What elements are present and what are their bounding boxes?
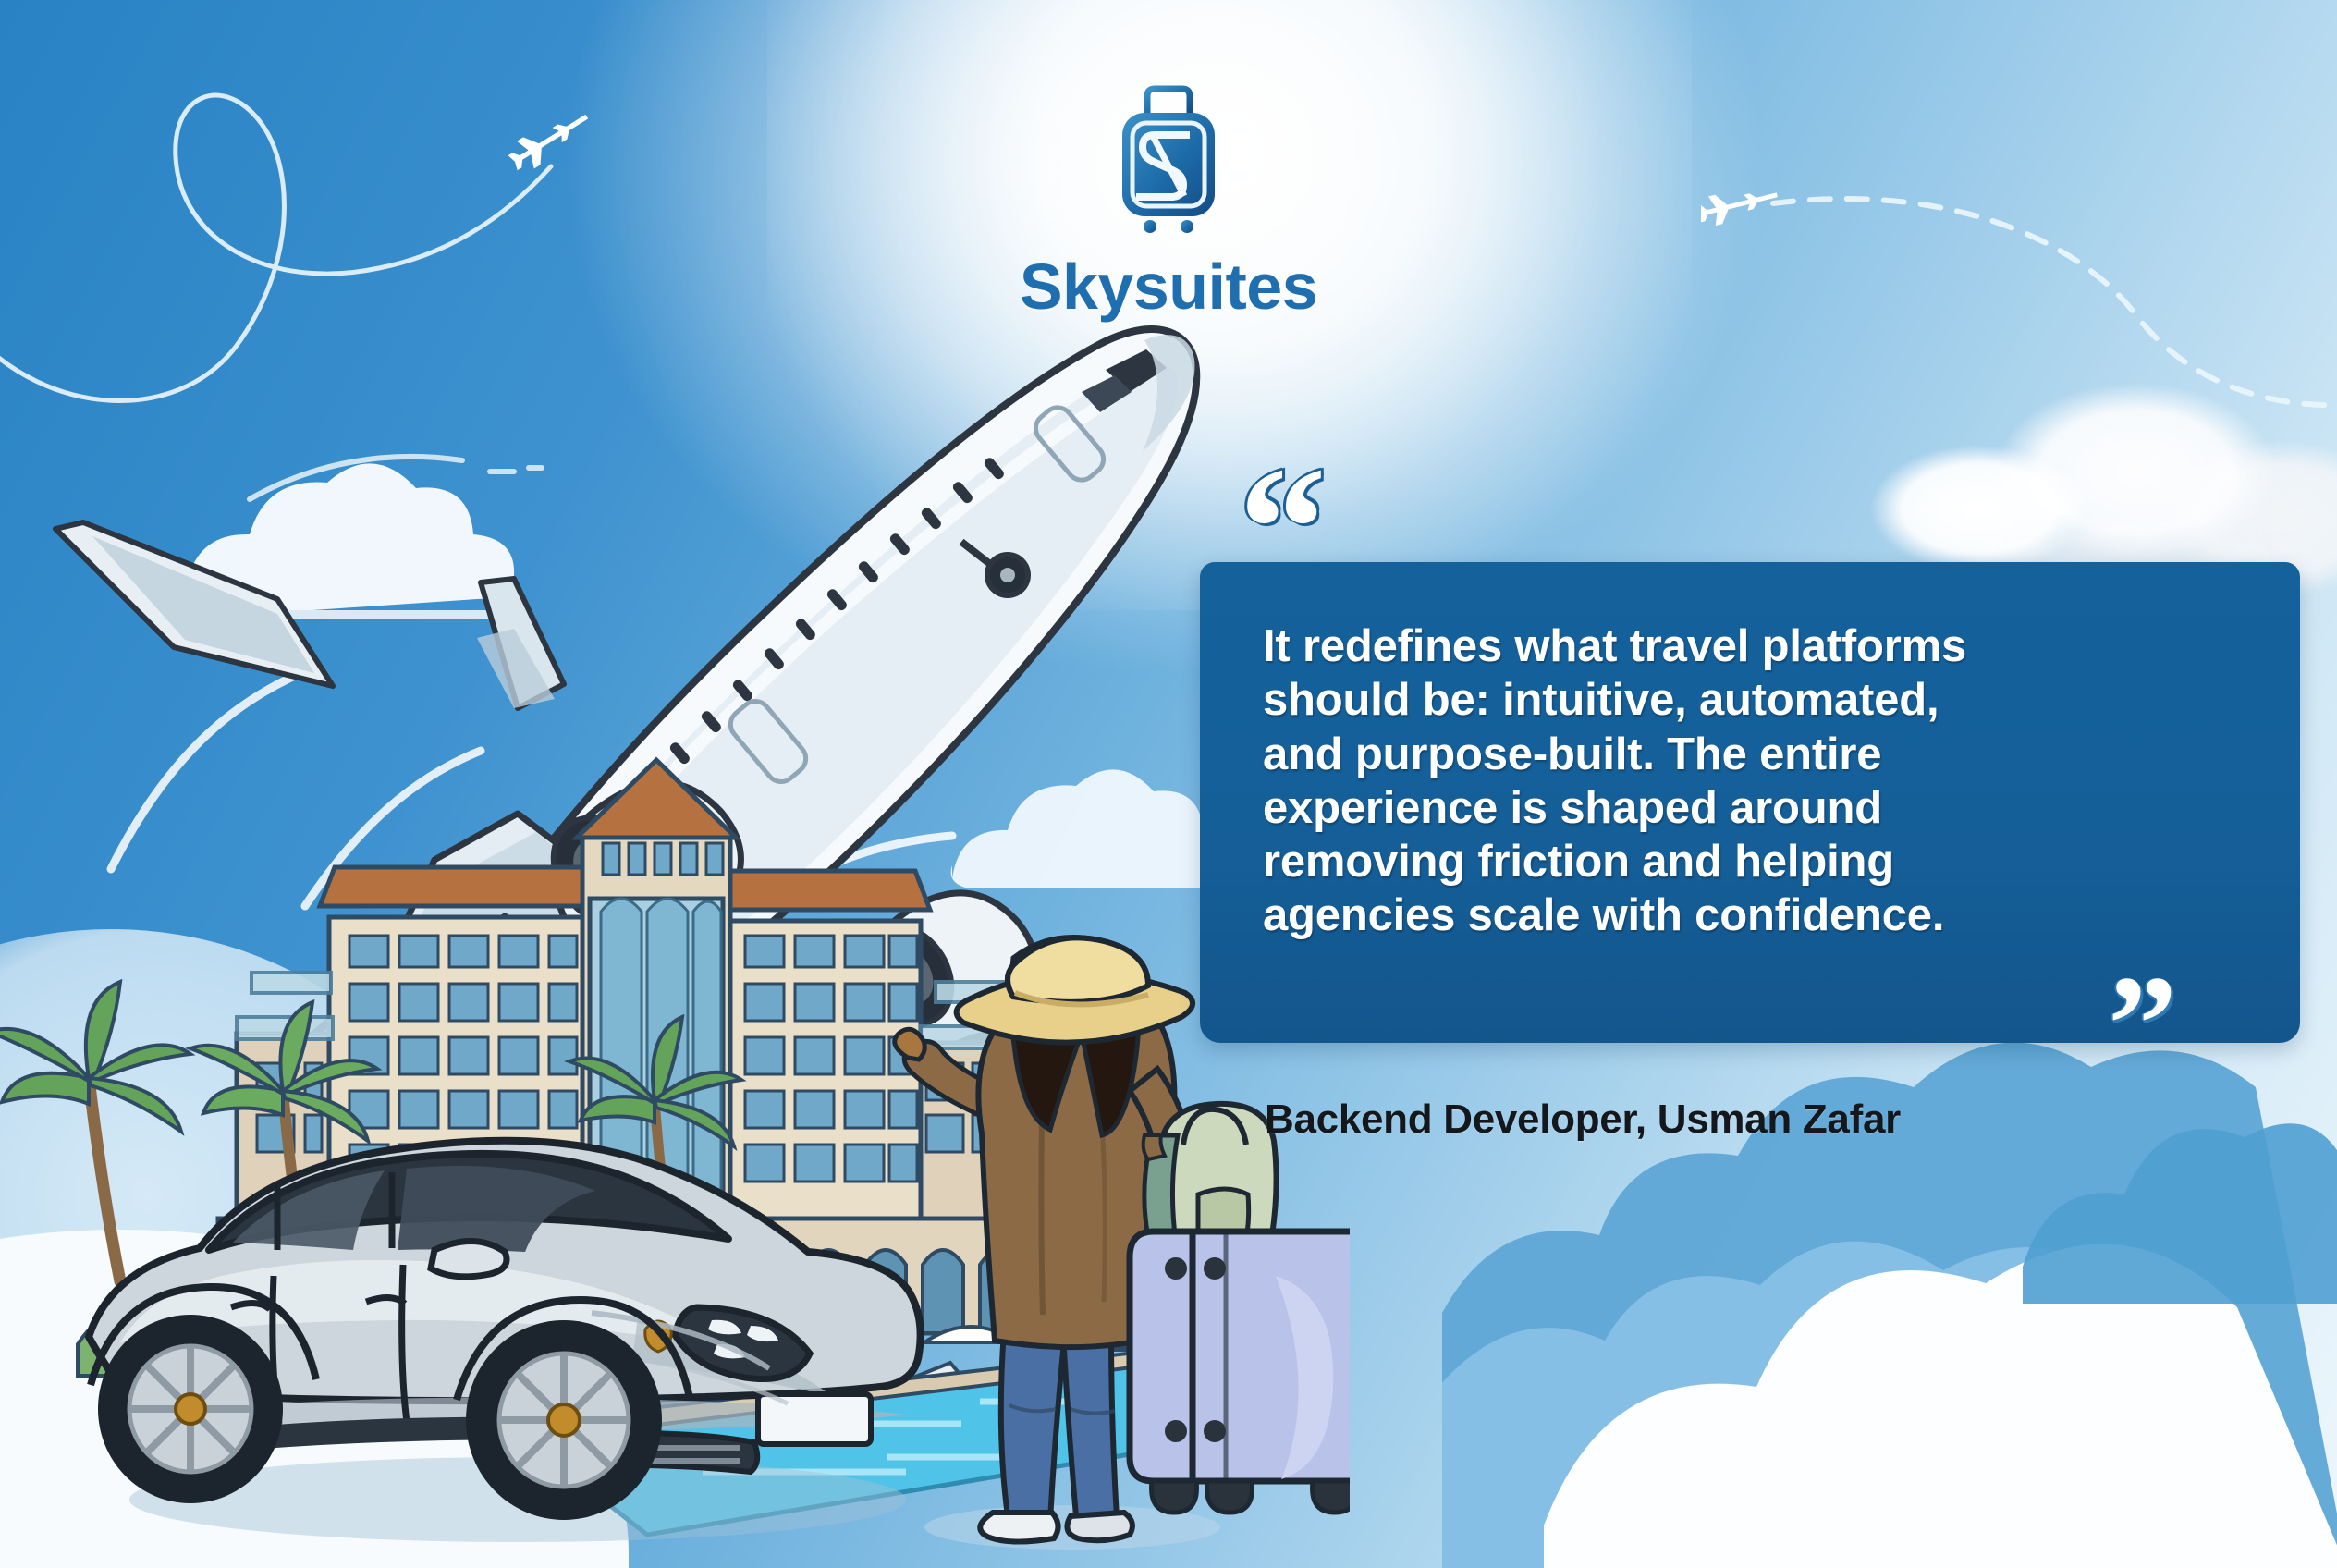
cartoon-cloud-b [951, 769, 1239, 888]
brand-logo[interactable]: Skysuites [0, 81, 2337, 324]
car-wheel-rear [98, 1315, 283, 1503]
close-quote-mark: ” [2108, 971, 2172, 1079]
brand-name: Skysuites [1020, 250, 1317, 324]
open-quote-mark: “ [1239, 460, 1321, 597]
testimonial-attribution: Backend Developer, Usman Zafar [1265, 1096, 1901, 1143]
suitcase-s-monogram-icon [1110, 81, 1227, 239]
testimonial-graphic: Skysuites It redefines what travel platf… [0, 0, 2337, 1568]
testimonial-quote: It redefines what travel platforms shoul… [1263, 619, 2239, 943]
car-wheel-front [466, 1320, 662, 1520]
flat-cloud-small-right [2015, 1082, 2337, 1304]
